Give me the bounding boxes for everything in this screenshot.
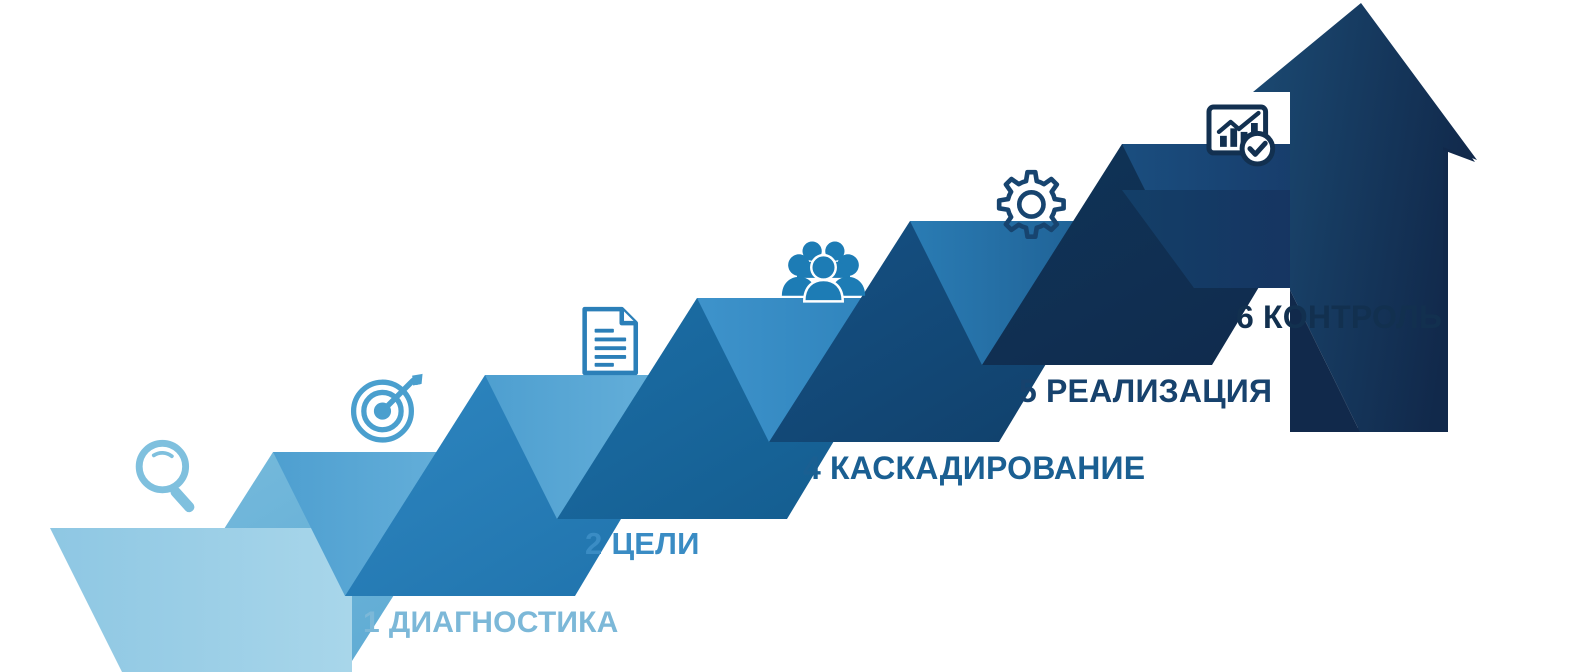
staircase-graphic: [0, 0, 1584, 672]
magnifier-icon: [139, 443, 196, 514]
step-1-label: 1ДИАГНОСТИКА: [363, 608, 618, 638]
step-6-number: 6: [1236, 299, 1254, 335]
infographic-canvas: 1ДИАГНОСТИКА 2ЦЕЛИ 4КАСКАДИРОВАНИЕ 5РЕАЛ…: [0, 0, 1584, 672]
step-4-label: 4КАСКАДИРОВАНИЕ: [803, 452, 1145, 484]
document-icon: [585, 309, 636, 373]
step-2-number: 2: [585, 526, 602, 561]
step-6-title: КОНТРОЛЬ: [1263, 299, 1442, 335]
chart-check-icon: [1209, 107, 1273, 164]
step-2-title: ЦЕЛИ: [611, 526, 699, 561]
step-1-title: ДИАГНОСТИКА: [389, 606, 619, 639]
step-5-number: 5: [1019, 373, 1037, 409]
step-4-title: КАСКАДИРОВАНИЕ: [830, 450, 1145, 486]
people-group-icon: [782, 242, 865, 302]
step-4-number: 4: [803, 450, 821, 486]
step-1-top: [50, 528, 352, 672]
step-6-label: 6КОНТРОЛЬ: [1236, 301, 1442, 333]
step-5-title: РЕАЛИЗАЦИЯ: [1046, 373, 1272, 409]
step-5-label: 5РЕАЛИЗАЦИЯ: [1019, 375, 1272, 407]
target-icon: [354, 374, 423, 440]
step-1-number: 1: [363, 606, 380, 639]
step-2-label: 2ЦЕЛИ: [585, 528, 700, 559]
